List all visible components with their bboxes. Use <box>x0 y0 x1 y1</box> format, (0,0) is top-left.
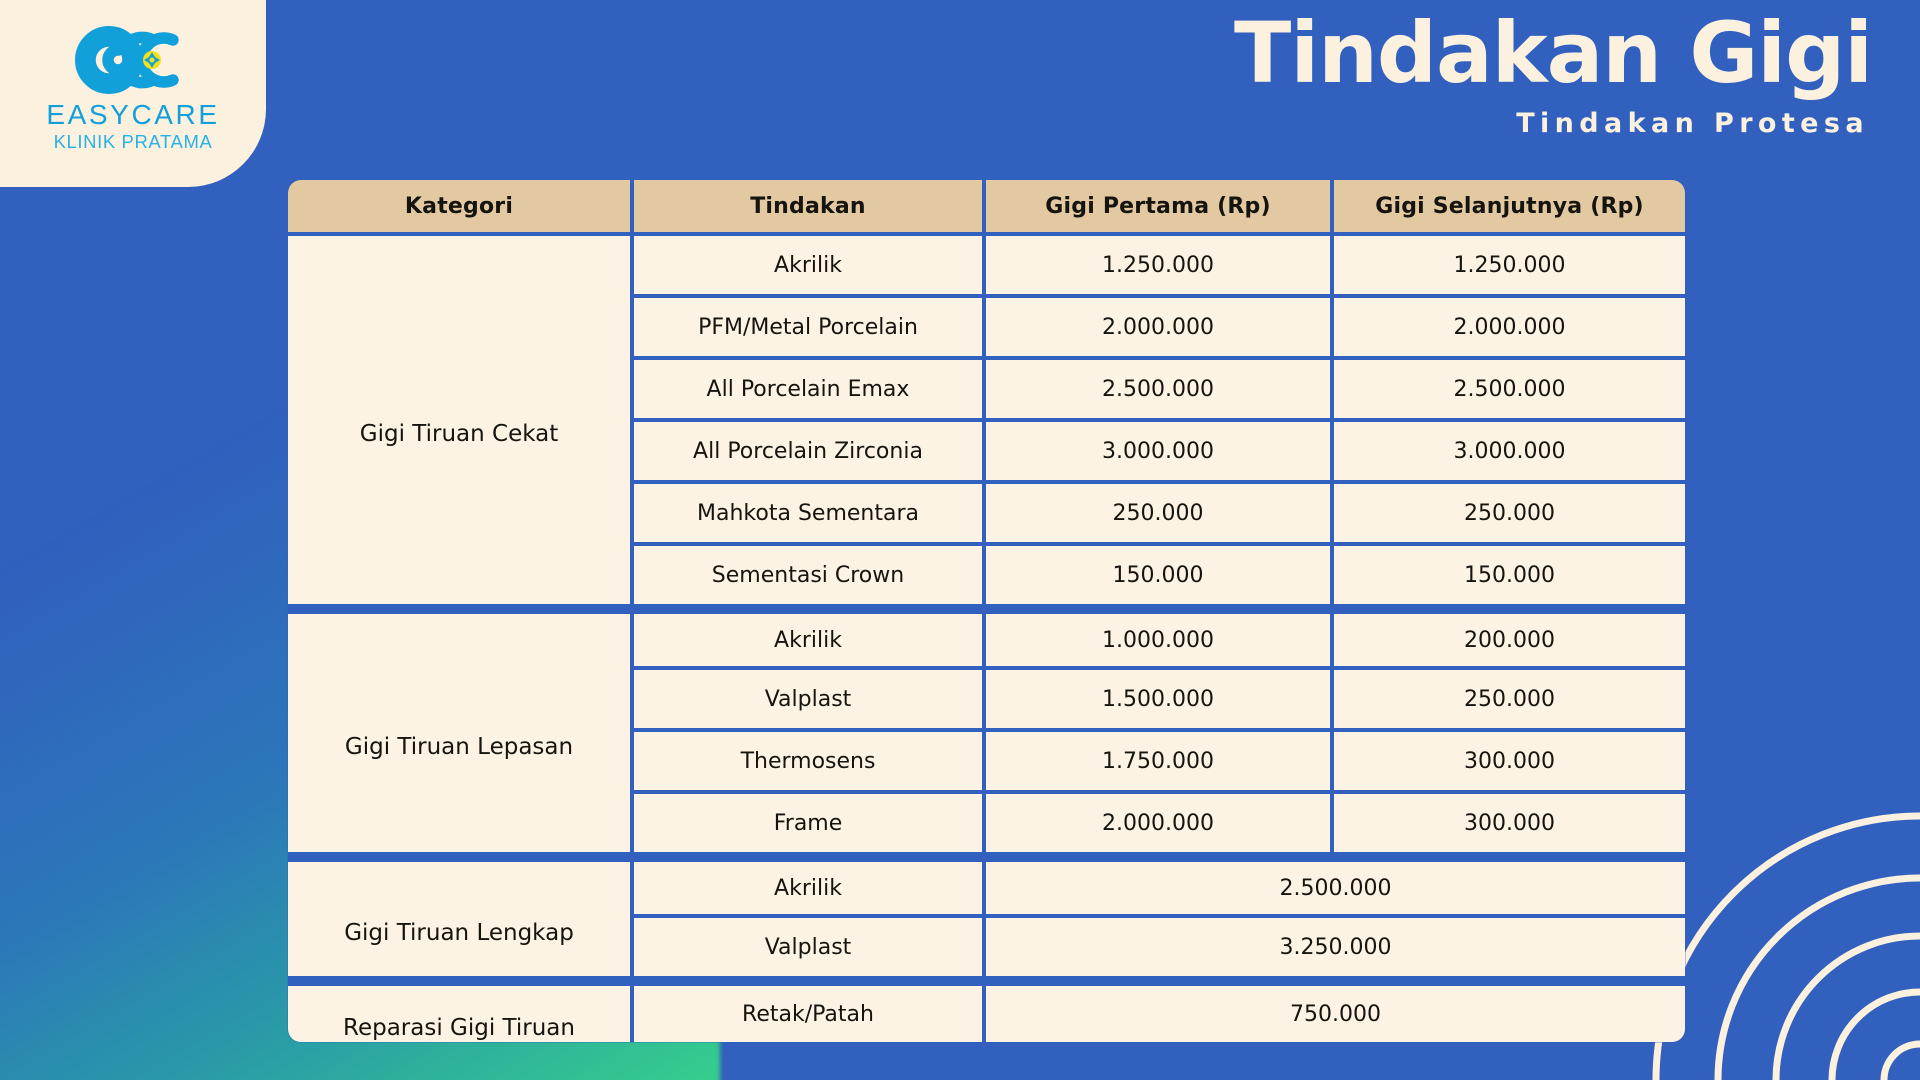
table-row: Reparasi Gigi TiruanRetak/Patah750.000 <box>288 980 1685 1042</box>
action-cell: Valplast <box>634 670 986 732</box>
price-first-tooth-cell: 2.000.000 <box>986 794 1334 856</box>
table-header-row: Kategori Tindakan Gigi Pertama (Rp) Gigi… <box>288 180 1685 236</box>
action-cell: Akrilik <box>634 856 986 918</box>
price-first-tooth-cell: 1.500.000 <box>986 670 1334 732</box>
table-row: Gigi Tiruan LepasanAkrilik1.000.000200.0… <box>288 608 1685 670</box>
price-first-tooth-cell: 250.000 <box>986 484 1334 546</box>
price-first-tooth-cell: 150.000 <box>986 546 1334 608</box>
price-next-tooth-cell: 300.000 <box>1334 794 1685 856</box>
action-cell: Sementasi Crown <box>634 546 986 608</box>
brand-tagline: KLINIK PRATAMA <box>54 131 213 153</box>
price-first-tooth-cell: 1.000.000 <box>986 608 1334 670</box>
price-first-tooth-cell: 1.250.000 <box>986 236 1334 298</box>
price-next-tooth-cell: 300.000 <box>1334 732 1685 794</box>
table-row: Gigi Tiruan CekatAkrilik1.250.0001.250.0… <box>288 236 1685 298</box>
action-cell: Akrilik <box>634 608 986 670</box>
price-first-tooth-cell: 2.000.000 <box>986 298 1334 360</box>
column-header-tindakan: Tindakan <box>634 180 986 236</box>
action-cell: Frame <box>634 794 986 856</box>
action-cell: Valplast <box>634 918 986 980</box>
category-cell: Gigi Tiruan Cekat <box>288 236 634 608</box>
price-first-tooth-cell: 2.500.000 <box>986 360 1334 422</box>
table-body: Gigi Tiruan CekatAkrilik1.250.0001.250.0… <box>288 236 1685 1042</box>
price-next-tooth-cell: 200.000 <box>1334 608 1685 670</box>
column-header-kategori: Kategori <box>288 180 634 236</box>
merged-price-cell: 3.250.000 <box>986 918 1685 980</box>
price-next-tooth-cell: 250.000 <box>1334 670 1685 732</box>
column-header-gigi-selanjutnya: Gigi Selanjutnya (Rp) <box>1334 180 1685 236</box>
header-title-block: Tindakan Gigi Tindakan Protesa <box>1234 6 1872 139</box>
action-cell: All Porcelain Zirconia <box>634 422 986 484</box>
price-table-container: Kategori Tindakan Gigi Pertama (Rp) Gigi… <box>288 180 1685 1042</box>
price-next-tooth-cell: 2.500.000 <box>1334 360 1685 422</box>
column-header-gigi-pertama: Gigi Pertama (Rp) <box>986 180 1334 236</box>
action-cell: Retak/Patah <box>634 980 986 1042</box>
merged-price-cell: 750.000 <box>986 980 1685 1042</box>
price-next-tooth-cell: 250.000 <box>1334 484 1685 546</box>
merged-price-cell: 2.500.000 <box>986 856 1685 918</box>
poster-canvas: EASYCARE KLINIK PRATAMA Tindakan Gigi Ti… <box>0 0 1920 1080</box>
action-cell: Akrilik <box>634 236 986 298</box>
price-next-tooth-cell: 2.000.000 <box>1334 298 1685 360</box>
category-cell: Reparasi Gigi Tiruan <box>288 980 634 1042</box>
price-first-tooth-cell: 1.750.000 <box>986 732 1334 794</box>
page-subtitle: Tindakan Protesa <box>1234 108 1869 139</box>
brand-name: EASYCARE <box>46 100 219 129</box>
table-row: Gigi Tiruan LengkapAkrilik2.500.000 <box>288 856 1685 918</box>
brand-logo-card: EASYCARE KLINIK PRATAMA <box>0 0 266 187</box>
action-cell: Mahkota Sementara <box>634 484 986 546</box>
easycare-swirl-logo-icon <box>75 26 191 94</box>
action-cell: Thermosens <box>634 732 986 794</box>
price-next-tooth-cell: 3.000.000 <box>1334 422 1685 484</box>
price-table: Kategori Tindakan Gigi Pertama (Rp) Gigi… <box>288 180 1685 1042</box>
price-next-tooth-cell: 150.000 <box>1334 546 1685 608</box>
price-first-tooth-cell: 3.000.000 <box>986 422 1334 484</box>
yellow-cross-icon <box>143 51 161 69</box>
category-cell: Gigi Tiruan Lepasan <box>288 608 634 856</box>
action-cell: PFM/Metal Porcelain <box>634 298 986 360</box>
price-next-tooth-cell: 1.250.000 <box>1334 236 1685 298</box>
page-title: Tindakan Gigi <box>1234 6 1872 100</box>
table-header: Kategori Tindakan Gigi Pertama (Rp) Gigi… <box>288 180 1685 236</box>
category-cell: Gigi Tiruan Lengkap <box>288 856 634 980</box>
action-cell: All Porcelain Emax <box>634 360 986 422</box>
